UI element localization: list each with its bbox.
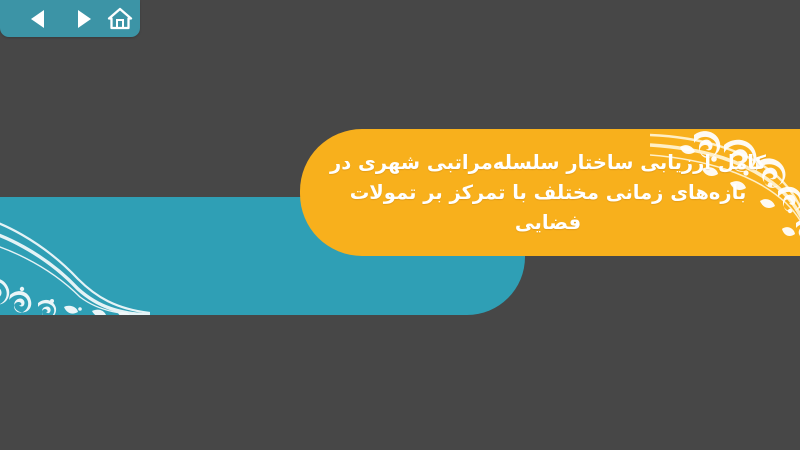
arabesque-corner-ornament [0, 197, 150, 315]
slide-canvas: کامل ارزیابی ساختار سلسله‌مراتبی شهری در… [0, 0, 800, 450]
home-icon [107, 7, 133, 31]
presentation-navigation-bar [0, 0, 140, 37]
forward-button[interactable] [64, 0, 104, 37]
back-icon [28, 8, 48, 30]
forward-icon [74, 8, 94, 30]
slide-title: کامل ارزیابی ساختار سلسله‌مراتبی شهری در… [300, 134, 800, 252]
back-button[interactable] [18, 0, 58, 37]
home-button[interactable] [100, 0, 140, 37]
